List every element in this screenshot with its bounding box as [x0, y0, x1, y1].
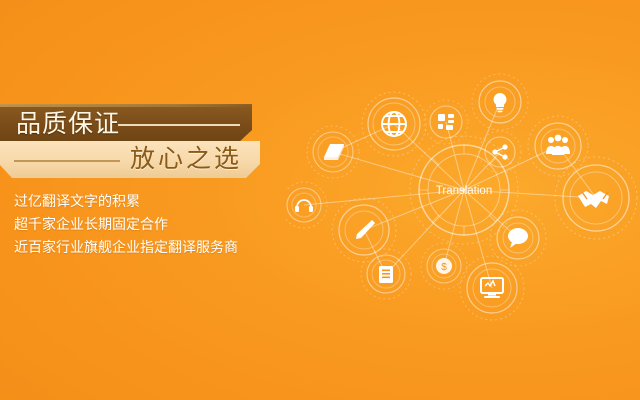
feature-item-2: 超千家企业长期固定合作 [14, 214, 294, 237]
feature-item-1: 过亿翻译文字的积累 [14, 191, 294, 214]
handshake-icon [578, 191, 609, 208]
node-book [307, 126, 359, 178]
coin-icon: $ [436, 258, 452, 274]
ribbon-bar-top: 品质保证 [0, 104, 252, 143]
banner-title-primary: 品质保证 [16, 109, 120, 139]
headset-icon [295, 200, 313, 212]
ribbon-bar-bottom: 放心之选 [0, 141, 260, 178]
people-icon [546, 135, 570, 155]
node-people [528, 116, 588, 176]
node-globe [362, 92, 426, 156]
document-icon [379, 266, 393, 283]
translation-network-graphic: Translation [286, 62, 640, 328]
node-bulb [472, 74, 528, 130]
banner-rule-bottom [14, 160, 120, 162]
book-icon [324, 144, 344, 160]
node-pencil [332, 198, 396, 262]
promo-banner: Translation [0, 0, 640, 400]
hub-label: Translation [436, 185, 492, 197]
banner-rule-top [118, 124, 240, 126]
svg-text:$: $ [441, 262, 447, 273]
pencil-icon [356, 220, 375, 239]
globe-icon [382, 112, 406, 136]
feature-item-3: 近百家行业旗舰企业指定翻译服务商 [14, 237, 294, 260]
banner-title-secondary: 放心之选 [130, 144, 242, 174]
chat-icon [508, 228, 528, 248]
node-document [361, 249, 411, 299]
feature-list: 过亿翻译文字的积累 超千家企业长期固定合作 近百家行业旗舰企业指定翻译服务商 [14, 191, 294, 260]
bulb-icon [494, 93, 507, 112]
node-handshake [555, 157, 637, 239]
ribbon-banner: 品质保证 放心之选 [0, 104, 268, 178]
network-hub: Translation [410, 136, 518, 244]
